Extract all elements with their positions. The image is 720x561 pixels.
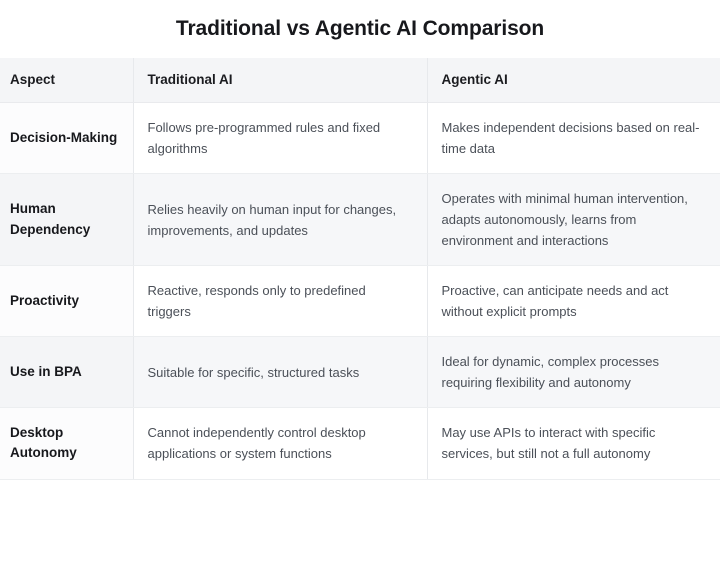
table-row: Use in BPA Suitable for specific, struct… <box>0 337 720 408</box>
cell-traditional-ai: Relies heavily on human input for change… <box>133 174 427 266</box>
cell-aspect: Proactivity <box>0 266 133 337</box>
table-row: Proactivity Reactive, responds only to p… <box>0 266 720 337</box>
cell-agentic-ai: May use APIs to interact with specific s… <box>427 408 720 479</box>
column-header-traditional-ai[interactable]: Traditional AI <box>133 58 427 103</box>
table-row: Decision-Making Follows pre-programmed r… <box>0 103 720 174</box>
cell-agentic-ai: Makes independent decisions based on rea… <box>427 103 720 174</box>
table-row: Human Dependency Relies heavily on human… <box>0 174 720 266</box>
cell-agentic-ai: Operates with minimal human intervention… <box>427 174 720 266</box>
column-header-aspect[interactable]: Aspect <box>0 58 133 103</box>
cell-traditional-ai: Suitable for specific, structured tasks <box>133 337 427 408</box>
cell-agentic-ai: Ideal for dynamic, complex processes req… <box>427 337 720 408</box>
comparison-table: Aspect Traditional AI Agentic AI Decisio… <box>0 58 720 480</box>
cell-aspect: Desktop Autonomy <box>0 408 133 479</box>
table-header-row: Aspect Traditional AI Agentic AI <box>0 58 720 103</box>
page-title-container: Traditional vs Agentic AI Comparison <box>0 0 720 58</box>
cell-traditional-ai: Follows pre-programmed rules and fixed a… <box>133 103 427 174</box>
cell-aspect: Decision-Making <box>0 103 133 174</box>
column-header-agentic-ai[interactable]: Agentic AI <box>427 58 720 103</box>
cell-agentic-ai: Proactive, can anticipate needs and act … <box>427 266 720 337</box>
cell-aspect: Use in BPA <box>0 337 133 408</box>
page-title: Traditional vs Agentic AI Comparison <box>176 17 544 41</box>
cell-aspect: Human Dependency <box>0 174 133 266</box>
table-row: Desktop Autonomy Cannot independently co… <box>0 408 720 479</box>
cell-traditional-ai: Cannot independently control desktop app… <box>133 408 427 479</box>
table-body: Decision-Making Follows pre-programmed r… <box>0 103 720 480</box>
table-header: Aspect Traditional AI Agentic AI <box>0 58 720 103</box>
cell-traditional-ai: Reactive, responds only to predefined tr… <box>133 266 427 337</box>
comparison-table-page: Traditional vs Agentic AI Comparison Asp… <box>0 0 720 561</box>
